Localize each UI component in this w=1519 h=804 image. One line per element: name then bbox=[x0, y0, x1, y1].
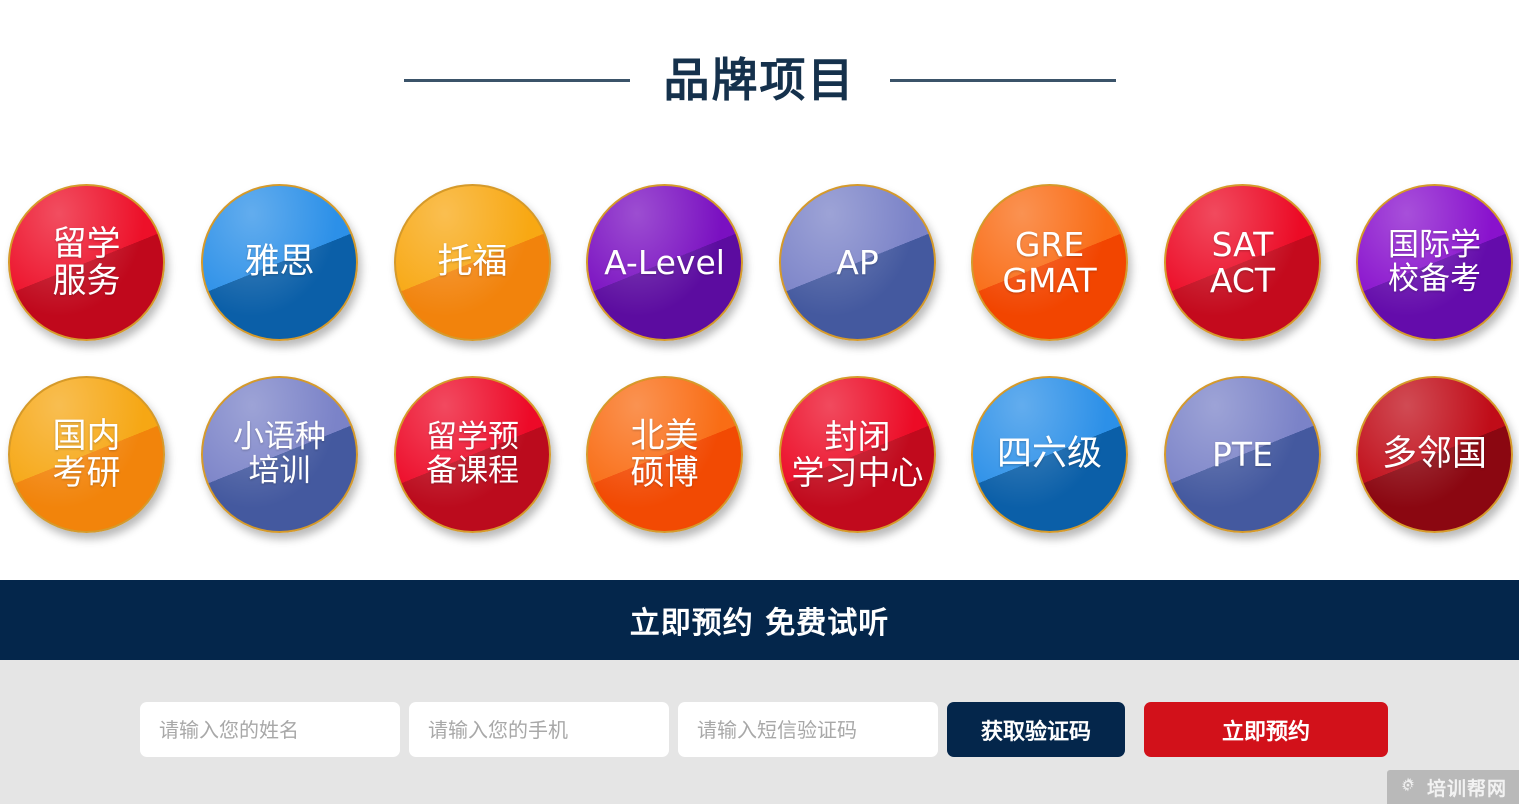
program-bubble[interactable]: 小语种 培训 bbox=[201, 376, 358, 533]
program-label: 托福 bbox=[437, 244, 507, 282]
submit-booking-button[interactable]: 立即预约 bbox=[1144, 702, 1388, 757]
page-title: 品牌项目 bbox=[664, 57, 856, 103]
program-bubble[interactable]: 四六级 bbox=[971, 376, 1128, 533]
title-rule-right bbox=[890, 79, 1116, 82]
program-bubble[interactable]: PTE bbox=[1164, 376, 1321, 533]
program-label: 国际学 校备考 bbox=[1388, 229, 1481, 296]
eye-sun-icon bbox=[1397, 776, 1419, 798]
program-bubble[interactable]: 托福 bbox=[394, 184, 551, 341]
program-label: 四六级 bbox=[997, 436, 1102, 474]
sms-code-input[interactable] bbox=[678, 702, 938, 757]
program-label: GRE GMAT bbox=[1002, 227, 1096, 298]
program-label: 留学 服务 bbox=[53, 226, 121, 299]
cta-title: 立即预约 免费试听 bbox=[630, 598, 889, 642]
program-bubble[interactable]: 国际学 校备考 bbox=[1356, 184, 1513, 341]
title-rule-left bbox=[404, 79, 630, 82]
program-bubble[interactable]: SAT ACT bbox=[1164, 184, 1321, 341]
program-label: 北美 硕博 bbox=[631, 418, 699, 491]
program-bubble[interactable]: GRE GMAT bbox=[971, 184, 1128, 341]
program-row-2: 国内 考研小语种 培训留学预 备课程北美 硕博封闭 学习中心四六级PTE多邻国 bbox=[0, 376, 1519, 536]
program-label: 雅思 bbox=[244, 244, 314, 282]
program-bubble[interactable]: 雅思 bbox=[201, 184, 358, 341]
program-bubble[interactable]: 国内 考研 bbox=[8, 376, 165, 533]
program-label: 封闭 学习中心 bbox=[781, 419, 934, 490]
program-label: 国内 考研 bbox=[53, 418, 121, 491]
booking-form: 获取验证码 立即预约 bbox=[0, 660, 1519, 804]
program-bubble[interactable]: 留学预 备课程 bbox=[394, 376, 551, 533]
program-label: A-Level bbox=[604, 245, 725, 281]
program-label: 多邻国 bbox=[1382, 436, 1487, 474]
program-label: SAT ACT bbox=[1210, 227, 1275, 298]
program-bubble[interactable]: 北美 硕博 bbox=[586, 376, 743, 533]
page-header: 品牌项目 bbox=[0, 0, 1519, 160]
program-row-1: 留学 服务雅思托福A-LevelAPGRE GMATSAT ACT国际学 校备考 bbox=[0, 184, 1519, 344]
watermark-text: 培训帮网 bbox=[1427, 774, 1507, 801]
form-row: 获取验证码 立即预约 bbox=[140, 702, 1388, 757]
site-watermark: 培训帮网 bbox=[1387, 770, 1519, 804]
program-bubble[interactable]: AP bbox=[779, 184, 936, 341]
program-bubble[interactable]: 多邻国 bbox=[1356, 376, 1513, 533]
program-label: 留学预 备课程 bbox=[426, 421, 519, 488]
get-code-button[interactable]: 获取验证码 bbox=[947, 702, 1125, 757]
program-label: 小语种 培训 bbox=[233, 421, 326, 488]
program-bubble[interactable]: 封闭 学习中心 bbox=[779, 376, 936, 533]
program-bubble[interactable]: 留学 服务 bbox=[8, 184, 165, 341]
name-input[interactable] bbox=[140, 702, 400, 757]
program-label: AP bbox=[836, 245, 878, 281]
program-label: PTE bbox=[1212, 437, 1273, 473]
cta-banner: 立即预约 免费试听 bbox=[0, 580, 1519, 660]
program-bubble[interactable]: A-Level bbox=[586, 184, 743, 341]
phone-input[interactable] bbox=[409, 702, 669, 757]
